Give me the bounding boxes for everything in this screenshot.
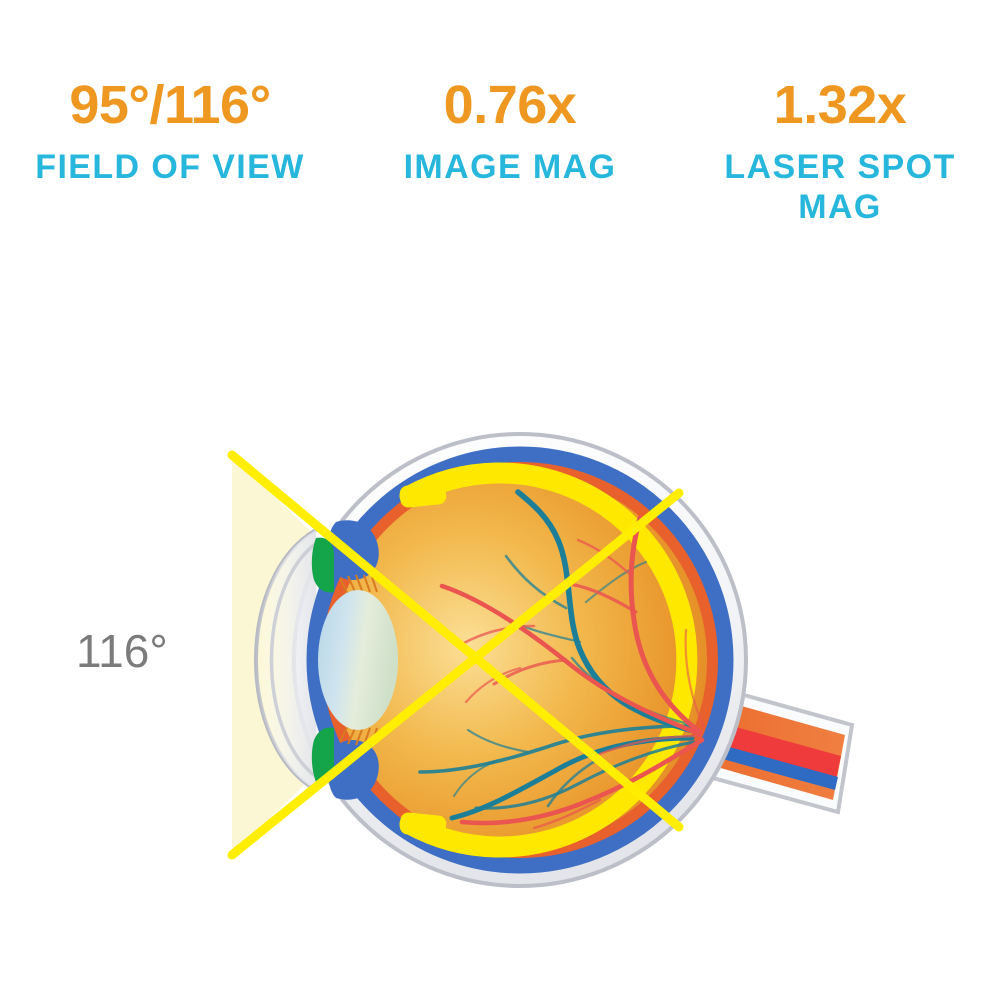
stat-label-laser-spot-mag: LASER SPOT MAG xyxy=(690,148,990,228)
eye-cross-section-svg xyxy=(0,380,1000,940)
stat-label-image-mag: IMAGE MAG xyxy=(404,148,617,188)
stat-value-image-mag: 0.76x xyxy=(444,78,577,132)
stat-block-field-of-view: 95°/116° FIELD OF VIEW xyxy=(0,78,340,188)
stat-block-laser-spot-mag: 1.32x LASER SPOT MAG xyxy=(680,78,1000,228)
crystalline-lens xyxy=(318,590,398,730)
stat-label-field-of-view: FIELD OF VIEW xyxy=(35,148,304,188)
stats-row: 95°/116° FIELD OF VIEW 0.76x IMAGE MAG 1… xyxy=(0,78,1000,228)
stat-value-laser-spot-mag: 1.32x xyxy=(774,78,907,132)
stat-value-field-of-view: 95°/116° xyxy=(69,78,270,132)
eye-diagram xyxy=(0,380,1000,940)
stat-block-image-mag: 0.76x IMAGE MAG xyxy=(340,78,680,188)
